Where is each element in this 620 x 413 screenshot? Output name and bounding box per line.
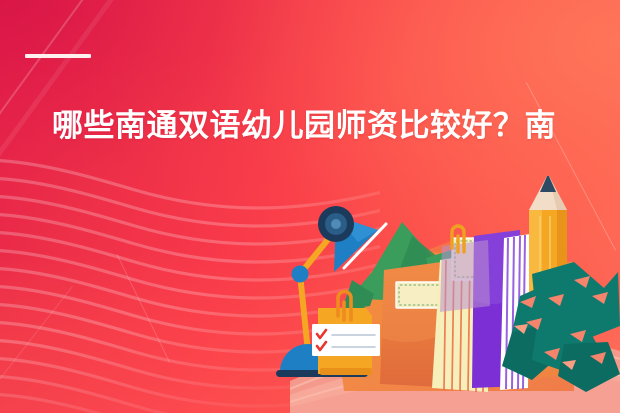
school-supplies-illustration [274,176,620,413]
banner: 哪些南通双语幼儿园师资比较好？南 [0,0,620,413]
decorative-rule [25,54,91,58]
page-title: 哪些南通双语幼儿园师资比较好？南 [52,106,592,146]
